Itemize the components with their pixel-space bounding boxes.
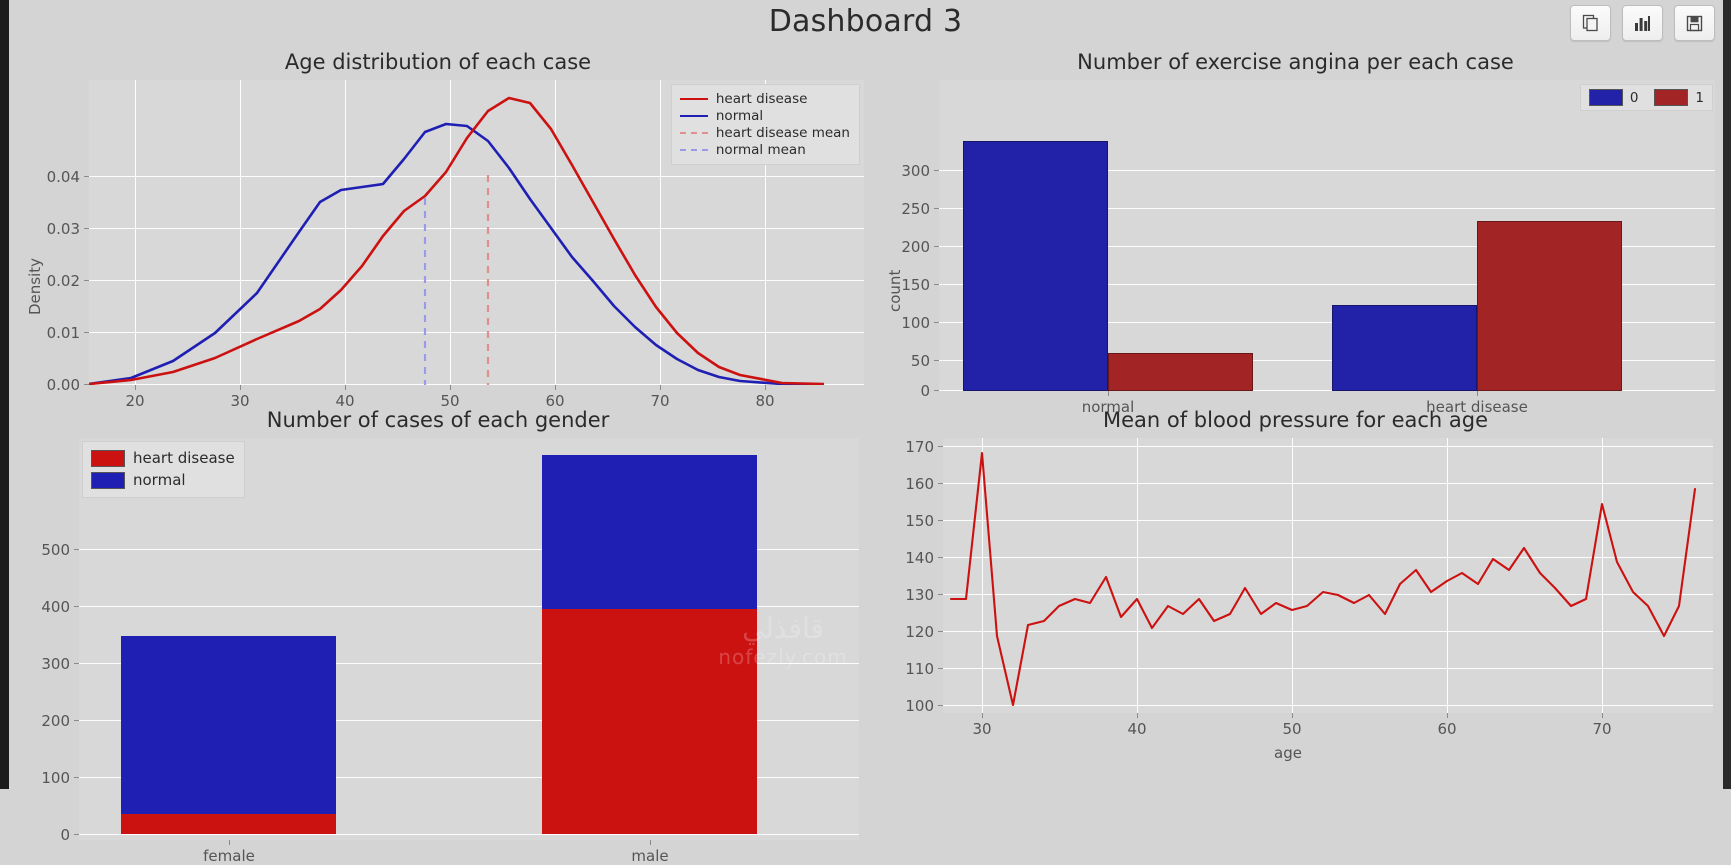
legend-label: normal mean <box>716 142 806 158</box>
chart-title-blood-pressure: Mean of blood pressure for each age <box>868 408 1723 432</box>
chart-title-gender-cases: Number of cases of each gender <box>8 408 868 432</box>
bar-male-heart-disease <box>542 609 757 834</box>
legend-label: heart disease <box>133 449 235 467</box>
legend-swatch-normal <box>680 115 708 117</box>
legend-label: heart disease mean <box>716 125 850 141</box>
legend-item: heart disease mean <box>680 124 850 141</box>
y-tick: 130 <box>868 586 934 604</box>
bar-female-heart-disease <box>121 814 336 834</box>
y-tick: 0.01 <box>18 324 80 342</box>
plot-area-exercise-angina: 0 1 <box>939 80 1715 391</box>
bar-normal-0 <box>963 141 1108 391</box>
legend-label: normal <box>716 108 763 124</box>
y-tick: 0.00 <box>18 376 80 394</box>
legend-gender-cases: heart disease normal <box>82 441 245 498</box>
bar-heart-disease-1 <box>1477 221 1622 391</box>
x-tick: 40 <box>1112 720 1162 738</box>
legend-swatch-normal-mean <box>680 149 708 151</box>
y-tick: 100 <box>868 314 930 332</box>
y-tick: 0.03 <box>18 220 80 238</box>
save-icon <box>1686 15 1703 32</box>
legend-swatch-1 <box>1654 89 1688 106</box>
y-tick: 110 <box>868 660 934 678</box>
x-tick: 60 <box>1422 720 1472 738</box>
chart-title-age-distribution: Age distribution of each case <box>8 50 868 74</box>
y-tick: 100 <box>8 769 70 787</box>
legend-item: 1 <box>1654 89 1704 106</box>
bar-normal-1 <box>1108 353 1253 391</box>
y-tick: 250 <box>868 200 930 218</box>
panel-age-distribution: Age distribution of each case Density 0.… <box>8 50 868 390</box>
y-tick: 150 <box>868 512 934 530</box>
dashboard-header: Dashboard 3 <box>0 0 1731 48</box>
plot-area-blood-pressure <box>943 438 1713 713</box>
y-tick: 170 <box>868 438 934 456</box>
y-tick: 400 <box>8 598 70 616</box>
legend-age-distribution: heart disease normal heart disease mean … <box>671 84 860 165</box>
y-tick: 0 <box>868 382 930 400</box>
y-tick: 200 <box>8 712 70 730</box>
legend-swatch-heart-disease <box>91 450 125 467</box>
legend-item: normal <box>680 107 850 124</box>
copy-button[interactable] <box>1570 5 1611 41</box>
legend-label: 1 <box>1695 90 1704 106</box>
x-tick: 50 <box>1267 720 1317 738</box>
x-tick: male <box>575 847 725 865</box>
legend-label: heart disease <box>716 91 808 107</box>
y-tick: 150 <box>868 276 930 294</box>
legend-item: heart disease <box>680 90 850 107</box>
plot-area-gender-cases: heart disease normal <box>79 438 859 840</box>
legend-exercise-angina: 0 1 <box>1580 84 1713 111</box>
y-tick: 120 <box>868 623 934 641</box>
legend-item: heart disease <box>91 447 235 469</box>
legend-item: 0 <box>1589 89 1639 106</box>
x-tick: female <box>154 847 304 865</box>
bar-heart-disease-0 <box>1332 305 1477 391</box>
y-tick: 0 <box>8 826 70 844</box>
panel-gender-cases: Number of cases of each gender 0 100 200… <box>8 408 868 768</box>
y-tick: 300 <box>868 162 930 180</box>
y-tick: 500 <box>8 541 70 559</box>
y-tick: 200 <box>868 238 930 256</box>
x-axis-label-age: age <box>1208 744 1368 762</box>
legend-swatch-0 <box>1589 89 1623 106</box>
legend-item: normal mean <box>680 141 850 158</box>
legend-label: 0 <box>1630 90 1639 106</box>
blood-pressure-line <box>943 438 1713 713</box>
bar-male-normal <box>542 455 757 609</box>
y-tick: 140 <box>868 549 934 567</box>
legend-swatch-heart-disease <box>680 98 708 100</box>
y-tick: 100 <box>868 697 934 715</box>
chart-title-exercise-angina: Number of exercise angina per each case <box>868 50 1723 74</box>
y-tick: 0.02 <box>18 272 80 290</box>
panel-exercise-angina: Number of exercise angina per each case … <box>868 50 1723 390</box>
legend-swatch-heart-disease-mean <box>680 132 708 134</box>
y-tick: 0.04 <box>18 168 80 186</box>
bar-female-normal <box>121 636 336 814</box>
legend-label: normal <box>133 471 186 489</box>
panel-blood-pressure: Mean of blood pressure for each age 170 … <box>868 408 1723 768</box>
save-button[interactable] <box>1674 5 1715 41</box>
chart-button[interactable] <box>1622 5 1663 41</box>
chart-icon <box>1634 15 1651 32</box>
plot-area-age-distribution: heart disease normal heart disease mean … <box>89 80 864 385</box>
window-edge-right <box>1723 0 1731 789</box>
y-tick: 160 <box>868 475 934 493</box>
x-tick: 30 <box>957 720 1007 738</box>
legend-item: normal <box>91 469 235 491</box>
copy-icon <box>1582 14 1599 32</box>
legend-swatch-normal <box>91 472 125 489</box>
y-tick: 300 <box>8 655 70 673</box>
y-tick: 50 <box>868 352 930 370</box>
toolbar <box>1570 5 1715 41</box>
x-tick: 70 <box>1577 720 1627 738</box>
page-title: Dashboard 3 <box>0 4 1731 39</box>
